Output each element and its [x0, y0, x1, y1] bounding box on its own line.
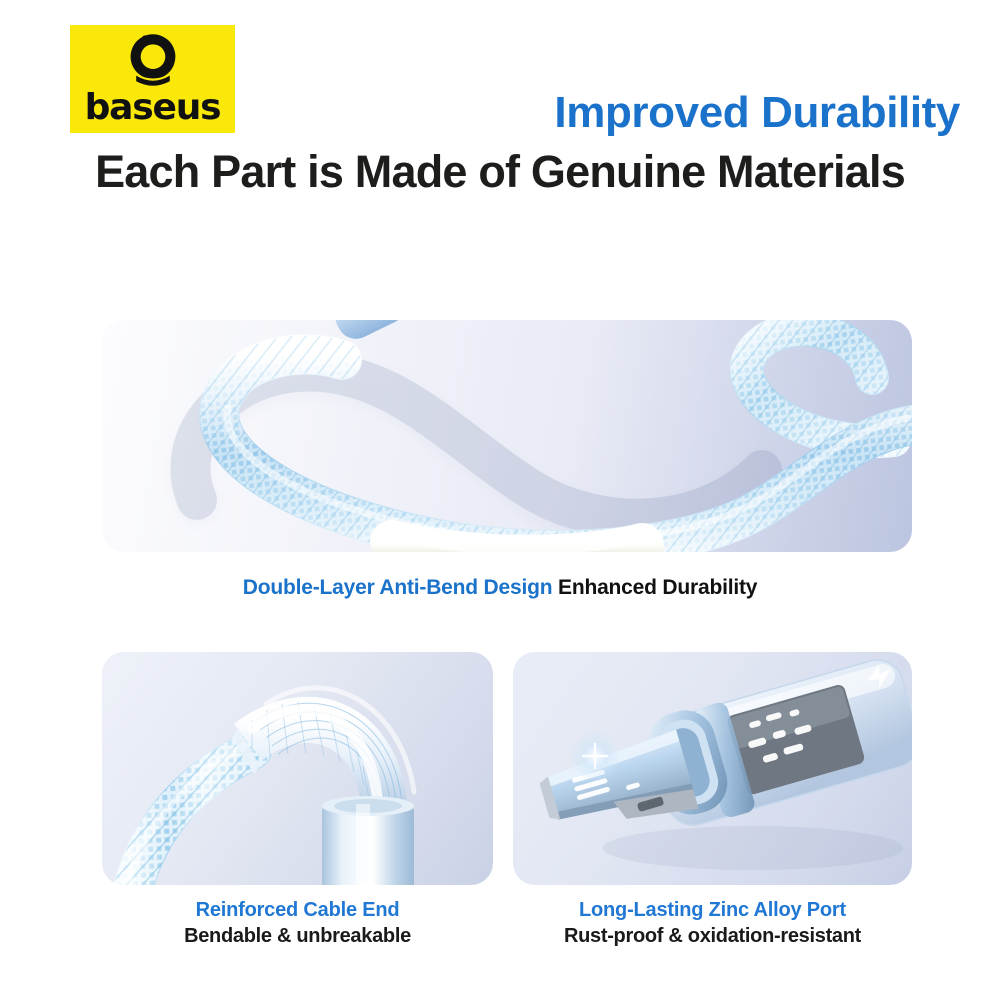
baseus-g-mark-icon — [125, 32, 181, 88]
feature-subtitle: Bendable & unbreakable — [102, 923, 493, 949]
reinforced-cable-end-illustration — [102, 652, 493, 885]
feature-panel-reinforced-cable-end — [102, 652, 493, 885]
feature-panel-zinc-alloy-port — [513, 652, 912, 885]
feature-caption-zinc-alloy-port: Long-Lasting Zinc Alloy Port Rust-proof … — [513, 898, 912, 949]
brand-logo-badge: baseus — [70, 25, 235, 133]
coiled-cable-illustration — [102, 320, 912, 552]
headline-secondary: Each Part is Made of Genuine Materials — [0, 146, 1000, 198]
zinc-alloy-port-illustration — [513, 652, 912, 885]
headline-primary: Improved Durability — [554, 88, 960, 138]
feature-title: Long-Lasting Zinc Alloy Port — [513, 898, 912, 923]
main-product-panel — [102, 320, 912, 552]
feature-subtitle: Rust-proof & oxidation-resistant — [513, 923, 912, 949]
main-caption-rest: Enhanced Durability — [552, 576, 757, 599]
feature-caption-reinforced-cable-end: Reinforced Cable End Bendable & unbreaka… — [102, 898, 493, 949]
main-caption-highlight: Double-Layer Anti-Bend Design — [243, 576, 553, 599]
brand-wordmark: baseus — [85, 90, 221, 126]
main-panel-caption: Double-Layer Anti-Bend Design Enhanced D… — [0, 576, 1000, 600]
feature-title: Reinforced Cable End — [102, 898, 493, 923]
